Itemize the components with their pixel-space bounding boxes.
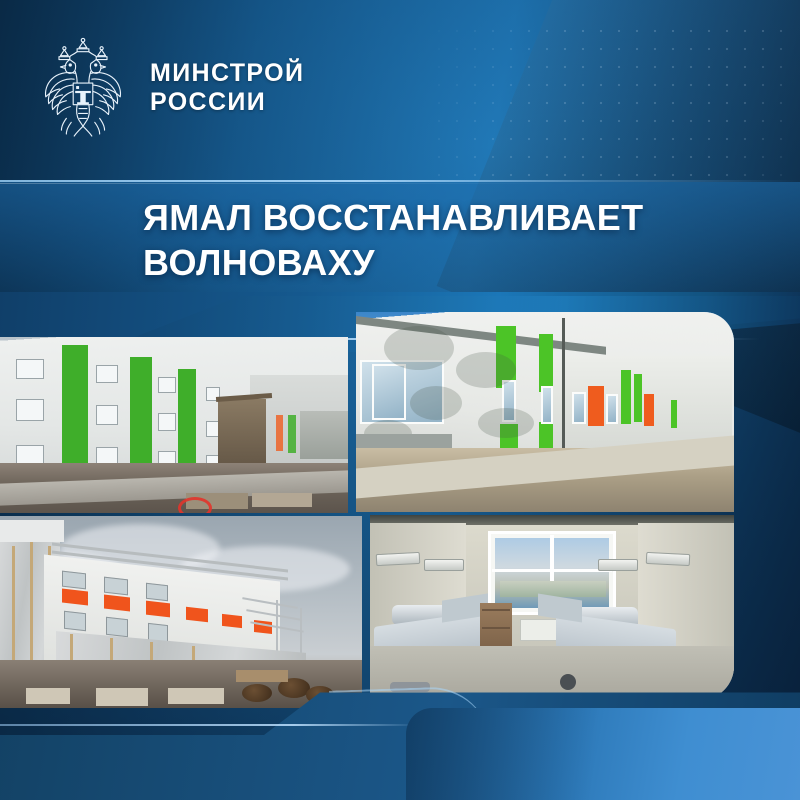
window [606, 394, 618, 424]
wall-lamp [598, 559, 638, 571]
facade-panel-orange [644, 394, 654, 426]
window [146, 583, 168, 602]
tree-shadow [478, 408, 534, 438]
facade-panel-orange-far [276, 415, 283, 451]
window [64, 611, 86, 632]
window [16, 399, 44, 421]
facade-panel-orange [62, 589, 88, 606]
window [158, 413, 176, 431]
page-title-line-1: ЯМАЛ ВОССТАНАВЛИВАЕТ [143, 196, 703, 241]
facade-panel-green-far [288, 415, 296, 453]
facade-panel-green [539, 334, 553, 392]
nightstand-drawer-line [482, 627, 510, 629]
nightstand-drawer-line [482, 609, 510, 611]
window [104, 577, 128, 596]
ministry-logo: МИНСТРОЙ РОССИИ [34, 36, 304, 140]
tree-shadow [456, 352, 516, 388]
header-divider-line [0, 180, 800, 182]
facade-panel-orange [186, 607, 208, 623]
page-title-line-2: ВОЛНОВАХУ [143, 241, 703, 286]
facade-panel-orange [146, 601, 170, 618]
window-transom [492, 569, 612, 572]
ministry-name-line-2: РОССИИ [150, 88, 304, 118]
window [62, 571, 86, 590]
photo-top-right [356, 312, 734, 512]
ministry-wordmark: МИНСТРОЙ РОССИИ [150, 59, 304, 118]
facade-panel-green [634, 374, 642, 422]
facade-panel-green [671, 400, 677, 428]
page-title: ЯМАЛ ВОССТАНАВЛИВАЕТ ВОЛНОВАХУ [143, 196, 703, 285]
header-divider-line-glow [0, 183, 800, 184]
window [158, 377, 176, 393]
bottom-light-panel-sheen [406, 708, 656, 800]
poster-canvas: МИНСТРОЙ РОССИИ ЯМАЛ ВОССТАНАВЛИВАЕТ ВОЛ… [0, 0, 800, 800]
building-edge [0, 520, 64, 542]
tree-shadow [410, 386, 462, 420]
tree-shadow [384, 326, 454, 370]
window [106, 617, 128, 638]
scaffold-pole [276, 600, 278, 658]
dot-grid-pattern-icon [430, 22, 790, 187]
window [541, 386, 553, 424]
russian-double-headed-eagle-emblem-icon [34, 36, 132, 140]
ministry-name-line-1: МИНСТРОЙ [150, 59, 304, 89]
bottom-decor-band [0, 670, 800, 800]
window-pane [372, 364, 406, 420]
drain-pipe [562, 318, 565, 450]
facade-panel-orange [588, 386, 604, 426]
facade-panel-orange [104, 595, 130, 612]
construction-materials [252, 493, 312, 507]
facade-panel-orange [222, 614, 242, 628]
wall-lamp [424, 559, 464, 571]
photo-top-left [0, 337, 348, 513]
facade-panel-green [539, 422, 553, 450]
red-circle-marker-icon [178, 497, 212, 513]
window [572, 392, 586, 424]
window-view-building [500, 581, 606, 597]
wall-lamp [646, 552, 691, 566]
window [16, 359, 44, 379]
tree-line [300, 411, 348, 459]
window [96, 405, 118, 425]
wall-lamp [376, 552, 421, 566]
window [96, 365, 118, 383]
facade-panel-green [621, 370, 631, 424]
